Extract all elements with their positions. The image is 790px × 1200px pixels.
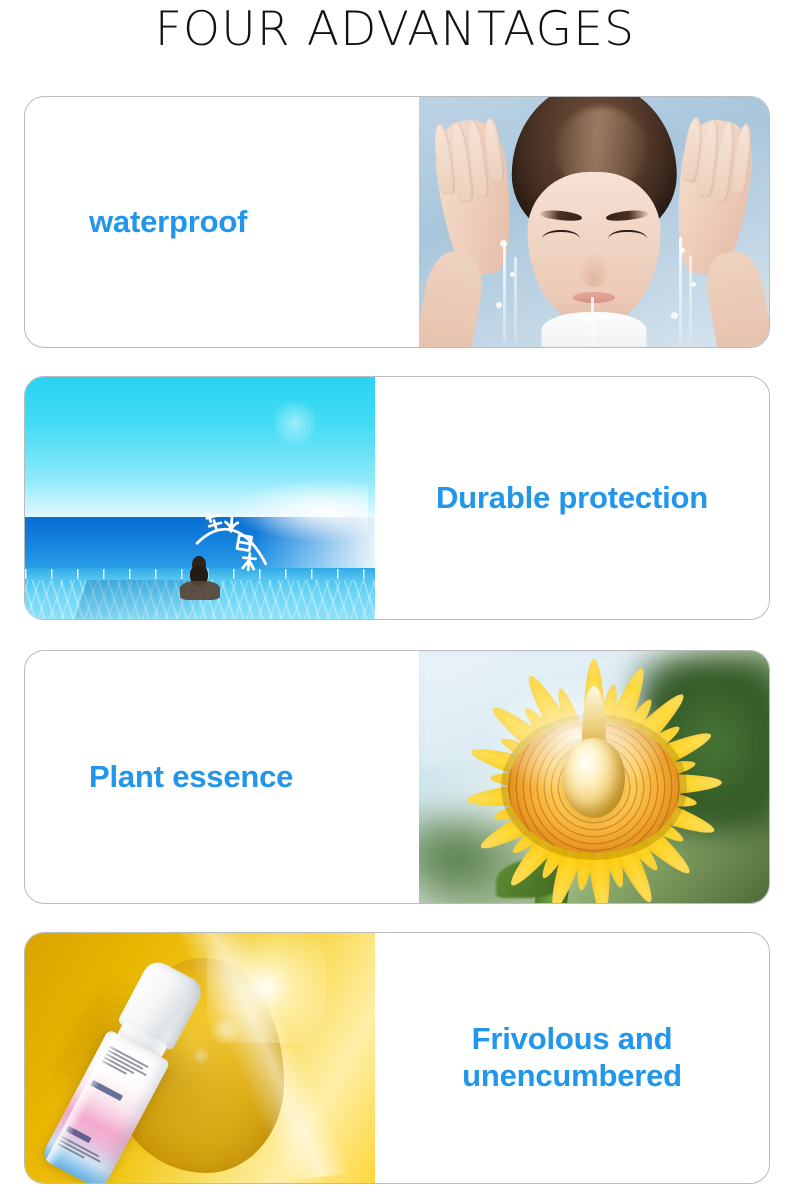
woman-washing-face-photo — [419, 97, 769, 347]
horizon-glow — [228, 479, 368, 542]
bottle-label-text — [57, 1136, 104, 1167]
card-text-block: Plant essence — [25, 651, 419, 903]
bottle-brand-mark — [66, 1126, 92, 1144]
advantage-label-durable-protection: Durable protection — [436, 480, 708, 517]
left-arm — [419, 248, 487, 347]
advantage-label-plant-essence: Plant essence — [89, 759, 293, 796]
lens-flare-bokeh — [274, 396, 316, 449]
page-title: FOUR ADVANTAGES — [0, 2, 790, 58]
water-droplet — [496, 302, 502, 308]
advantages-page: FOUR ADVANTAGES waterproof — [0, 0, 790, 1200]
right-arm — [701, 248, 769, 347]
water-stream — [514, 257, 517, 342]
bottle-brand-mark — [90, 1080, 123, 1101]
water-droplet — [584, 317, 589, 322]
nose-shading — [578, 252, 610, 287]
face-shape — [528, 172, 661, 327]
water-droplet — [691, 282, 696, 287]
water-droplet — [679, 247, 685, 253]
water-stream — [689, 255, 692, 343]
sunflower-oil-droplet-photo — [419, 651, 769, 903]
card-text-block: Durable protection — [375, 377, 769, 619]
advantage-label-frivolous-and-unencumbered: Frivolous and unencumbered — [462, 1021, 682, 1094]
wash-photo-backdrop — [419, 97, 769, 347]
spray-bottle-product-photo — [25, 933, 375, 1183]
card-text-block: Frivolous and unencumbered — [375, 933, 769, 1183]
pool-photo-backdrop — [25, 377, 375, 619]
infinity-pool-ocean-photo — [25, 377, 375, 619]
droplet-bulb — [563, 738, 625, 818]
water-droplet — [500, 240, 507, 247]
white-tank-top — [542, 312, 647, 347]
gold-photo-backdrop — [25, 933, 375, 1183]
water-stream — [503, 242, 506, 342]
card-text-block: waterproof — [25, 97, 419, 347]
water-droplet — [671, 312, 678, 319]
advantage-card-frivolous-and-unencumbered[interactable]: Frivolous and unencumbered — [24, 932, 770, 1184]
advantage-card-waterproof[interactable]: waterproof — [24, 96, 770, 348]
bottle-label-text — [102, 1046, 153, 1084]
advantage-card-durable-protection[interactable]: Durable protection — [24, 376, 770, 620]
water-droplet — [510, 272, 515, 277]
advantage-label-waterproof: waterproof — [89, 204, 247, 241]
oil-droplet-icon — [563, 686, 625, 818]
advantage-card-plant-essence[interactable]: Plant essence — [24, 650, 770, 904]
swimmer-silhouette — [179, 556, 221, 600]
flower-photo-backdrop — [419, 651, 769, 903]
water-stream — [591, 297, 594, 347]
swimmer-shoulders — [180, 581, 220, 599]
